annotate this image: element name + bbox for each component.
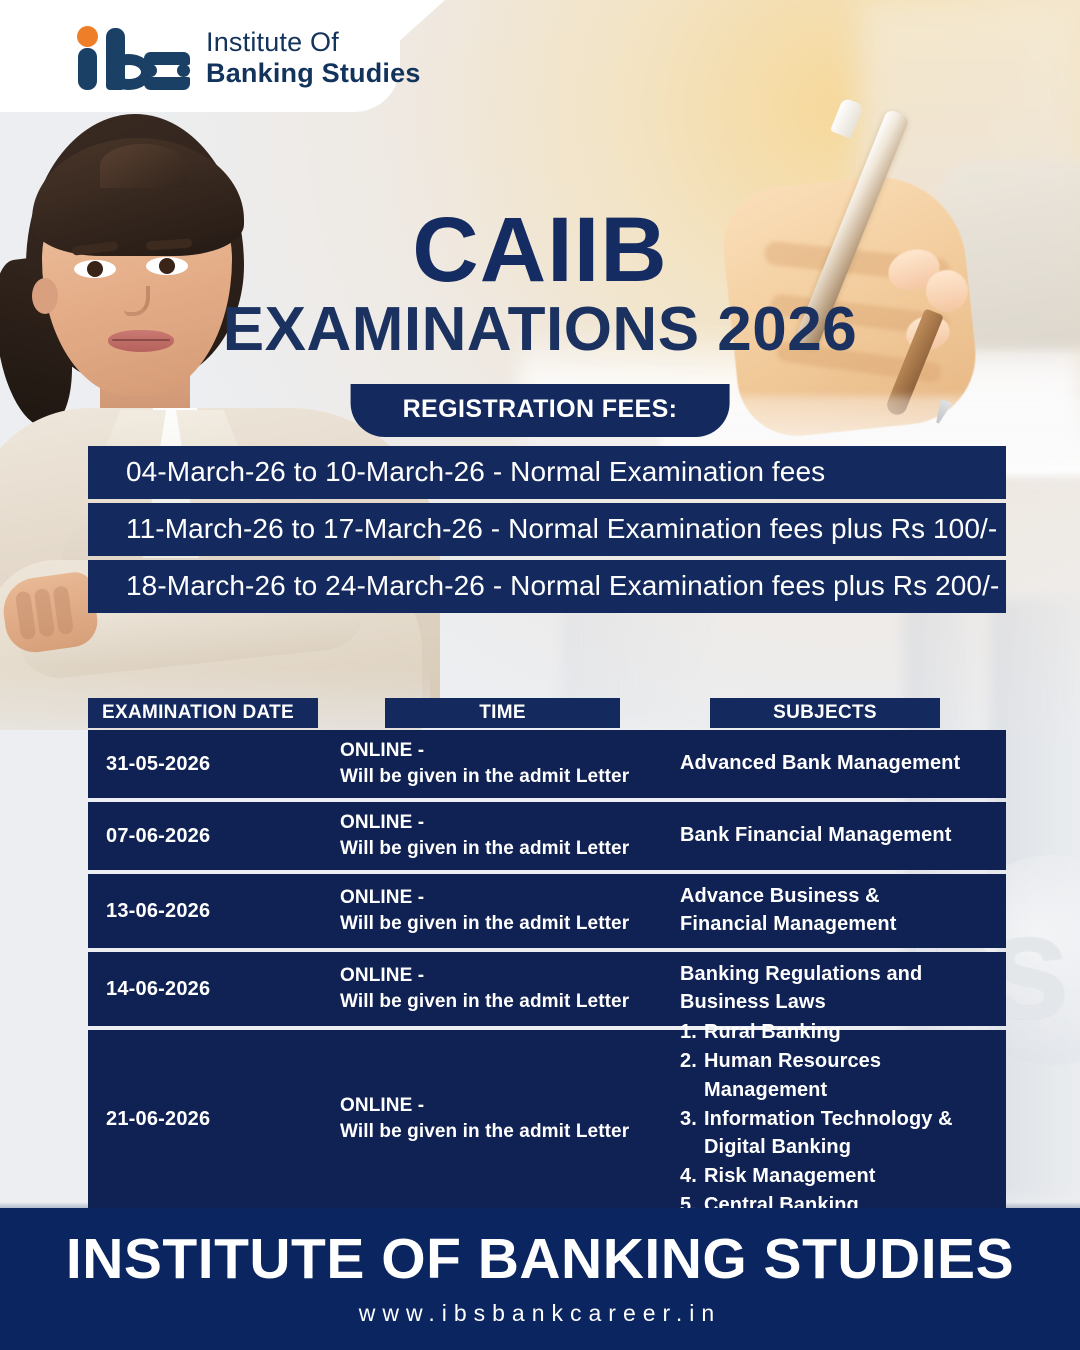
list-item-label: Risk Management	[704, 1162, 876, 1191]
subject-numbered-list: 1. Rural Banking 2. Human Resources Mana…	[680, 1018, 998, 1220]
subject-line2: Business Laws	[680, 989, 998, 1017]
time-line1: ONLINE -	[340, 738, 680, 764]
subject-line1: Bank Financial Management	[680, 822, 998, 850]
list-item-label: Rural Banking	[704, 1018, 841, 1047]
brand-logo[interactable]: Institute Of Banking Studies	[74, 26, 421, 90]
brand-logo-line2: Banking Studies	[206, 58, 421, 89]
time-line2: Will be given in the admit Letter	[340, 764, 680, 790]
fee-row: 18-March-26 to 24-March-26 - Normal Exam…	[88, 560, 1006, 613]
poster-root: bs	[0, 0, 1080, 1350]
cell-time: ONLINE - Will be given in the admit Lett…	[340, 963, 680, 1014]
list-item-number: 3.	[680, 1105, 697, 1134]
ibs-logo-icon	[74, 26, 192, 90]
registration-fees-list: 04-March-26 to 10-March-26 - Normal Exam…	[88, 446, 1006, 613]
list-item: 3. Information Technology &	[680, 1105, 998, 1134]
cell-date: 14-06-2026	[88, 978, 340, 1001]
time-line1: ONLINE -	[340, 1093, 680, 1119]
list-item-label: Information Technology &	[704, 1105, 953, 1134]
list-item-number: 4.	[680, 1162, 697, 1191]
list-item: 4. Risk Management	[680, 1162, 998, 1191]
cell-date: 31-05-2026	[88, 753, 340, 776]
subject-line1: Banking Regulations and	[680, 961, 998, 989]
cell-date: 07-06-2026	[88, 825, 340, 848]
table-row: 13-06-2026 ONLINE - Will be given in the…	[88, 874, 1006, 948]
time-line1: ONLINE -	[340, 810, 680, 836]
footer-website-url[interactable]: www.ibsbankcareer.in	[359, 1300, 721, 1327]
time-line2: Will be given in the admit Letter	[340, 1119, 680, 1145]
schedule-table-header: EXAMINATION DATE TIME SUBJECTS	[88, 698, 1006, 728]
schedule-table-body: 31-05-2026 ONLINE - Will be given in the…	[88, 730, 1006, 1208]
cell-time: ONLINE - Will be given in the admit Lett…	[340, 810, 680, 861]
table-row: 21-06-2026 ONLINE - Will be given in the…	[88, 1030, 1006, 1208]
time-line1: ONLINE -	[340, 963, 680, 989]
cell-time: ONLINE - Will be given in the admit Lett…	[340, 885, 680, 936]
table-row: 14-06-2026 ONLINE - Will be given in the…	[88, 952, 1006, 1026]
subject-line1: Advance Business &	[680, 883, 998, 911]
list-item: 2. Human Resources Management	[680, 1047, 998, 1105]
cell-time: ONLINE - Will be given in the admit Lett…	[340, 738, 680, 789]
cell-subject: Bank Financial Management	[680, 822, 1006, 850]
time-line2: Will be given in the admit Letter	[340, 911, 680, 937]
time-line2: Will be given in the admit Letter	[340, 989, 680, 1015]
cell-date: 21-06-2026	[88, 1108, 340, 1131]
time-line1: ONLINE -	[340, 885, 680, 911]
list-item: 1. Rural Banking	[680, 1018, 998, 1047]
column-header-subjects: SUBJECTS	[710, 698, 940, 728]
footer-title: INSTITUTE OF BANKING STUDIES	[66, 1231, 1014, 1288]
title-main: CAIIB	[0, 205, 1080, 295]
brand-logo-line1: Institute Of	[206, 27, 421, 58]
page-title: CAIIB EXAMINATIONS 2026	[0, 205, 1080, 362]
list-item-number: 2.	[680, 1047, 697, 1105]
list-item-number: 1.	[680, 1018, 697, 1047]
cell-subject: 1. Rural Banking 2. Human Resources Mana…	[680, 1018, 1006, 1220]
brand-logo-text: Institute Of Banking Studies	[206, 27, 421, 90]
list-item-label-cont: Digital Banking	[680, 1133, 851, 1162]
list-item-continuation: Digital Banking	[680, 1133, 998, 1162]
table-row: 07-06-2026 ONLINE - Will be given in the…	[88, 802, 1006, 870]
subject-line2: Financial Management	[680, 911, 998, 939]
cell-subject: Advanced Bank Management	[680, 750, 1006, 778]
table-row: 31-05-2026 ONLINE - Will be given in the…	[88, 730, 1006, 798]
list-item-label: Human Resources Management	[704, 1047, 998, 1105]
subject-line1: Advanced Bank Management	[680, 750, 998, 778]
cell-time: ONLINE - Will be given in the admit Lett…	[340, 1093, 680, 1144]
fee-row: 11-March-26 to 17-March-26 - Normal Exam…	[88, 503, 1006, 556]
registration-fees-badge: REGISTRATION FEES:	[351, 384, 730, 437]
title-subtitle: EXAMINATIONS 2026	[0, 297, 1080, 362]
cell-date: 13-06-2026	[88, 900, 340, 923]
cell-subject: Banking Regulations and Business Laws	[680, 961, 1006, 1016]
footer-bar: INSTITUTE OF BANKING STUDIES www.ibsbank…	[0, 1208, 1080, 1350]
column-header-time: TIME	[385, 698, 620, 728]
column-header-date: EXAMINATION DATE	[88, 698, 318, 728]
time-line2: Will be given in the admit Letter	[340, 836, 680, 862]
cell-subject: Advance Business & Financial Management	[680, 883, 1006, 938]
fee-row: 04-March-26 to 10-March-26 - Normal Exam…	[88, 446, 1006, 499]
